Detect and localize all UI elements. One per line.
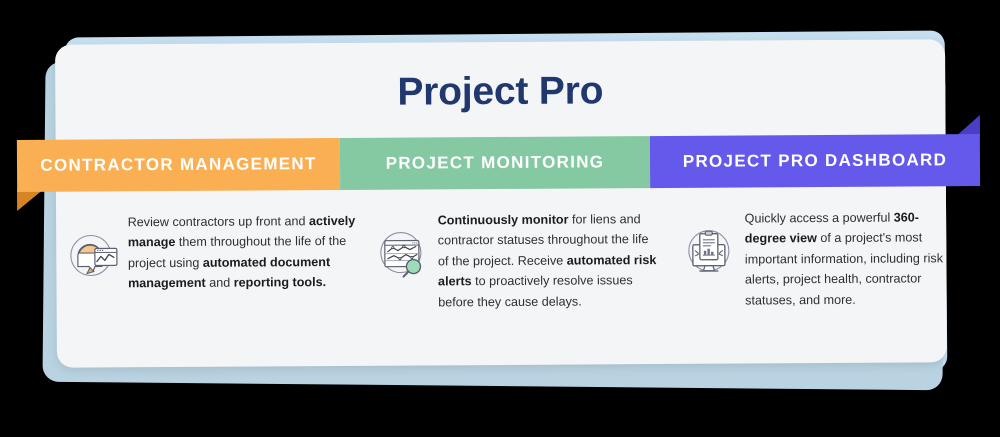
feature-column-contractor-management: Review contractors up front and actively… <box>56 211 357 343</box>
feature-columns: Review contractors up front and actively… <box>56 207 947 342</box>
feature-column-project-monitoring: Continuously monitor for liens and contr… <box>356 209 662 341</box>
promo-card-stage: Project Pro CONTRACTOR MANAGEMENT PROJEC… <box>0 0 1000 437</box>
contractor-profile-chart-icon <box>64 226 120 282</box>
document-chart-magnifier-icon <box>374 224 430 280</box>
banner-project-pro-dashboard[interactable]: PROJECT PRO DASHBOARD <box>650 134 980 188</box>
text-segment-bold: Continuously monitor <box>438 213 569 228</box>
text-segment: Quickly access a powerful <box>745 211 894 226</box>
text-segment: Review contractors up front and <box>128 214 309 229</box>
feature-text-contractor-management: Review contractors up front and actively… <box>128 211 356 294</box>
feature-text-project-monitoring: Continuously monitor for liens and contr… <box>438 209 662 312</box>
monitor-clipboard-dashboard-icon <box>681 223 737 279</box>
text-segment: and <box>206 276 234 290</box>
page-title: Project Pro <box>55 67 945 116</box>
banner-contractor-management[interactable]: CONTRACTOR MANAGEMENT <box>17 138 340 192</box>
feature-text-project-pro-dashboard: Quickly access a powerful 360-degree vie… <box>745 207 947 310</box>
ribbon-fold-left <box>17 189 44 211</box>
text-segment-bold: reporting tools. <box>234 275 326 290</box>
feature-banner-bar: CONTRACTOR MANAGEMENT PROJECT MONITORING… <box>17 134 980 192</box>
banner-project-monitoring[interactable]: PROJECT MONITORING <box>340 136 650 190</box>
feature-column-project-pro-dashboard: Quickly access a powerful 360-degree vie… <box>661 207 947 339</box>
